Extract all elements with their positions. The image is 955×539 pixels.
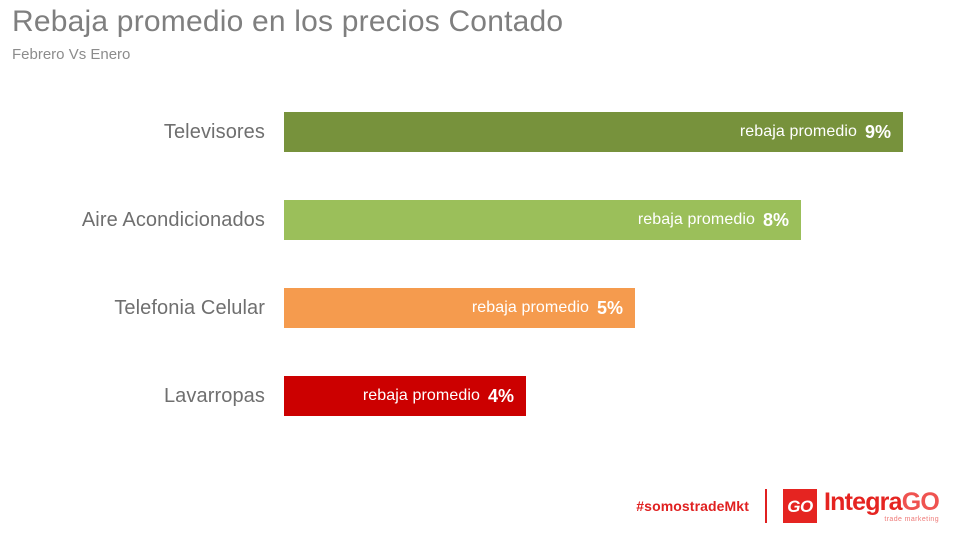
bar-row: Aire Acondicionados rebaja promedio 8% xyxy=(0,200,955,240)
bar-annotation: rebaja promedio xyxy=(638,211,755,229)
bar-value: 5% xyxy=(597,298,623,319)
logo-name: IntegraGO xyxy=(824,490,939,515)
header: Rebaja promedio en los precios Contado F… xyxy=(12,4,912,64)
integrago-logo: GO IntegraGO trade marketing xyxy=(783,489,939,523)
category-label-telefonia-celular: Telefonia Celular xyxy=(0,288,265,328)
bar-televisores: rebaja promedio 9% xyxy=(284,112,903,152)
logo-tagline: trade marketing xyxy=(824,516,939,523)
bar-annotation: rebaja promedio xyxy=(740,123,857,141)
bar-telefonia-celular: rebaja promedio 5% xyxy=(284,288,635,328)
page-title: Rebaja promedio en los precios Contado xyxy=(12,4,912,40)
bar-row: Lavarropas rebaja promedio 4% xyxy=(0,376,955,416)
bar-aire-acondicionados: rebaja promedio 8% xyxy=(284,200,801,240)
bar-annotation: rebaja promedio xyxy=(472,299,589,317)
bar-annotation: rebaja promedio xyxy=(363,387,480,405)
bar-row: Telefonia Celular rebaja promedio 5% xyxy=(0,288,955,328)
page-subtitle: Febrero Vs Enero xyxy=(12,46,912,64)
go-logo-icon-label: GO xyxy=(787,498,812,515)
bar-value: 4% xyxy=(488,386,514,407)
category-label-lavarropas: Lavarropas xyxy=(0,376,265,416)
footer-divider xyxy=(765,489,767,523)
logo-wordmark: IntegraGO trade marketing xyxy=(824,490,939,523)
bar-value: 9% xyxy=(865,122,891,143)
footer: #somostradeMkt GO IntegraGO trade market… xyxy=(636,485,939,527)
bar-lavarropas: rebaja promedio 4% xyxy=(284,376,526,416)
hashtag-text: #somostradeMkt xyxy=(636,498,749,514)
bar-value: 8% xyxy=(763,210,789,231)
bar-row: Televisores rebaja promedio 9% xyxy=(0,112,955,152)
go-logo-icon: GO xyxy=(783,489,817,523)
category-label-televisores: Televisores xyxy=(0,112,265,152)
logo-name-primary: Integra xyxy=(824,488,902,516)
logo-name-secondary: GO xyxy=(902,488,939,516)
bar-chart: Televisores rebaja promedio 9% Aire Acon… xyxy=(0,96,955,436)
slide-canvas: Rebaja promedio en los precios Contado F… xyxy=(0,0,955,539)
category-label-aire-acondicionados: Aire Acondicionados xyxy=(0,200,265,240)
